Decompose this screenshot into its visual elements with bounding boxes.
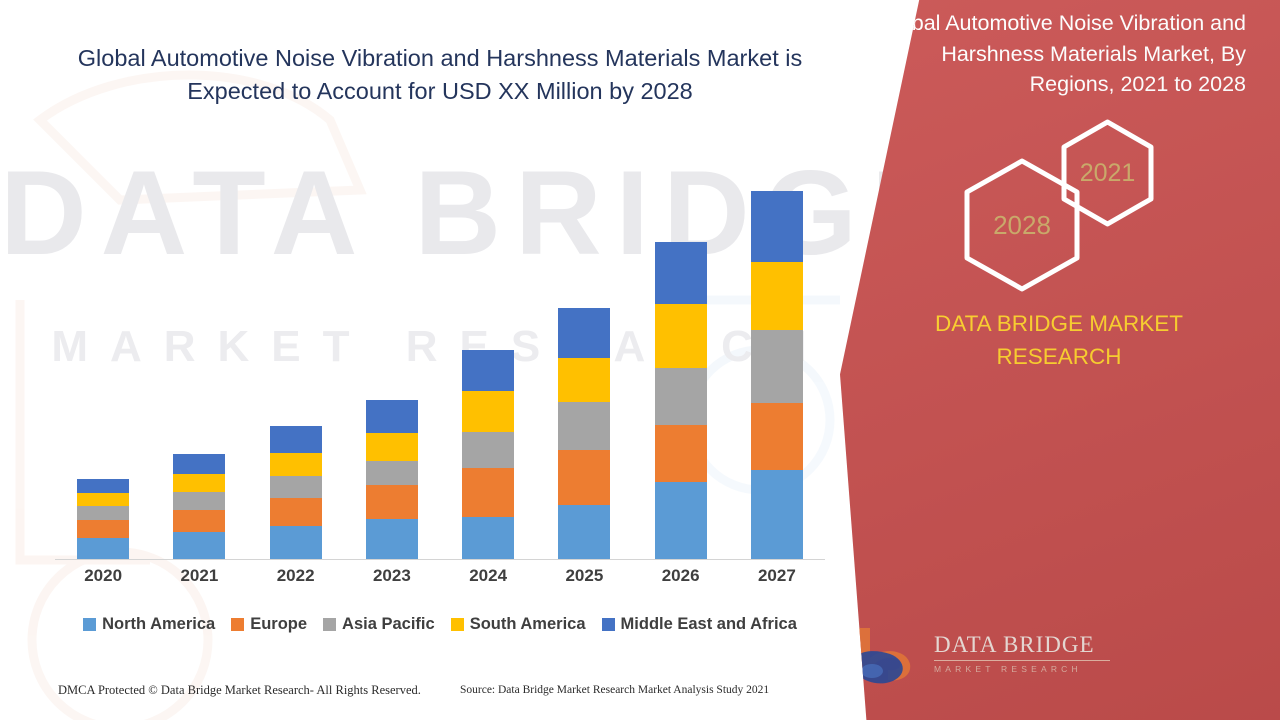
- bar-segment[interactable]: [77, 506, 129, 520]
- stacked-bar[interactable]: [751, 191, 803, 560]
- page-title: Global Automotive Noise Vibration and Ha…: [60, 42, 820, 109]
- stacked-bar[interactable]: [366, 400, 418, 560]
- source-text: Source: Data Bridge Market Research Mark…: [460, 684, 769, 696]
- bar-segment[interactable]: [173, 492, 225, 510]
- hexagon-2028: 2028: [962, 156, 1082, 294]
- bar-segment[interactable]: [751, 262, 803, 331]
- x-axis-label-2026: 2026: [638, 566, 723, 586]
- copyright-text: DMCA Protected © Data Bridge Market Rese…: [58, 683, 421, 698]
- stacked-bar[interactable]: [655, 242, 707, 560]
- legend-swatch-icon: [323, 618, 336, 631]
- hexagon-group: 2021 2028: [960, 118, 1170, 283]
- bar-segment[interactable]: [366, 461, 418, 486]
- bar-segment[interactable]: [462, 391, 514, 432]
- bar-segment[interactable]: [366, 433, 418, 461]
- bar-segment[interactable]: [366, 485, 418, 519]
- bar-segment[interactable]: [558, 358, 610, 402]
- legend-label: Asia Pacific: [342, 615, 435, 634]
- bar-segment[interactable]: [462, 432, 514, 469]
- legend-swatch-icon: [83, 618, 96, 631]
- stacked-bar[interactable]: [77, 479, 129, 560]
- x-axis-label-2027: 2027: [734, 566, 819, 586]
- chart-pane: Global Automotive Noise Vibration and Ha…: [0, 0, 880, 720]
- x-axis-label-2024: 2024: [446, 566, 531, 586]
- hexagon-2028-label: 2028: [993, 210, 1051, 241]
- stacked-bar-chart: [55, 160, 825, 560]
- bar-segment[interactable]: [270, 426, 322, 453]
- legend-item[interactable]: South America: [451, 615, 586, 634]
- bar-segment[interactable]: [462, 468, 514, 517]
- bar-segment[interactable]: [173, 532, 225, 560]
- legend-label: Europe: [250, 615, 307, 634]
- bar-segment[interactable]: [270, 498, 322, 526]
- bar-segment[interactable]: [270, 526, 322, 560]
- bar-segment[interactable]: [751, 191, 803, 262]
- x-axis-label-2025: 2025: [542, 566, 627, 586]
- bar-segment[interactable]: [655, 242, 707, 305]
- logo-title: DATA BRIDGE: [934, 632, 1110, 661]
- legend-swatch-icon: [451, 618, 464, 631]
- bar-group-2023: [349, 162, 434, 560]
- logo-text: DATA BRIDGE MARKET RESEARCH: [934, 632, 1110, 674]
- bar-group-2022: [253, 162, 338, 560]
- legend-swatch-icon: [231, 618, 244, 631]
- x-axis-labels: 20202021202220232024202520262027: [55, 566, 825, 586]
- bar-segment[interactable]: [558, 308, 610, 358]
- legend-item[interactable]: Europe: [231, 615, 307, 634]
- x-axis-label-2020: 2020: [61, 566, 146, 586]
- bar-segment[interactable]: [655, 425, 707, 483]
- stacked-bar[interactable]: [462, 350, 514, 560]
- bar-group-2025: [542, 162, 627, 560]
- data-bridge-logo: DATA BRIDGE MARKET RESEARCH: [850, 618, 1110, 698]
- legend-label: Middle East and Africa: [621, 615, 797, 634]
- hexagon-2021-label: 2021: [1080, 159, 1136, 188]
- logo-subtitle: MARKET RESEARCH: [934, 664, 1110, 674]
- bar-segment[interactable]: [655, 304, 707, 368]
- bar-segment[interactable]: [77, 493, 129, 506]
- bar-segment[interactable]: [558, 450, 610, 506]
- bar-segment[interactable]: [366, 400, 418, 433]
- bar-segment[interactable]: [751, 330, 803, 403]
- bar-group-2026: [638, 162, 723, 560]
- bar-group-2024: [446, 162, 531, 560]
- brand-name: DATA BRIDGE MARKET RESEARCH: [874, 308, 1244, 373]
- x-axis-line: [55, 559, 825, 560]
- bar-group-2027: [734, 162, 819, 560]
- stacked-bar[interactable]: [270, 426, 322, 560]
- x-axis-label-2021: 2021: [157, 566, 242, 586]
- legend-item[interactable]: Asia Pacific: [323, 615, 435, 634]
- bar-segment[interactable]: [462, 517, 514, 560]
- bar-segment[interactable]: [462, 350, 514, 391]
- legend-swatch-icon: [602, 618, 615, 631]
- bar-segment[interactable]: [558, 402, 610, 450]
- x-axis-label-2022: 2022: [253, 566, 338, 586]
- bar-group-2021: [157, 162, 242, 560]
- legend-label: North America: [102, 615, 215, 634]
- bar-segment[interactable]: [751, 470, 803, 560]
- bar-segment[interactable]: [173, 454, 225, 475]
- bar-segment[interactable]: [77, 538, 129, 560]
- bar-segment[interactable]: [77, 479, 129, 493]
- right-red-panel: Global Automotive Noise Vibration and Ha…: [840, 0, 1280, 720]
- bar-segment[interactable]: [270, 476, 322, 498]
- x-axis-label-2023: 2023: [349, 566, 434, 586]
- legend-label: South America: [470, 615, 586, 634]
- legend-item[interactable]: North America: [83, 615, 215, 634]
- legend-item[interactable]: Middle East and Africa: [602, 615, 797, 634]
- stacked-bar[interactable]: [558, 308, 610, 560]
- bar-segment[interactable]: [366, 519, 418, 560]
- bar-segment[interactable]: [173, 510, 225, 532]
- chart-legend: North AmericaEuropeAsia PacificSouth Ame…: [55, 615, 825, 634]
- bar-segment[interactable]: [655, 482, 707, 560]
- bar-segment[interactable]: [173, 474, 225, 492]
- chart-plot-area: [55, 162, 825, 560]
- right-panel-title: Global Automotive Noise Vibration and Ha…: [856, 8, 1246, 100]
- bar-segment[interactable]: [77, 520, 129, 538]
- bar-segment[interactable]: [270, 453, 322, 477]
- bar-group-2020: [61, 162, 146, 560]
- bar-segment[interactable]: [751, 403, 803, 471]
- bar-segment[interactable]: [655, 368, 707, 425]
- bar-segment[interactable]: [558, 505, 610, 560]
- stacked-bar[interactable]: [173, 454, 225, 560]
